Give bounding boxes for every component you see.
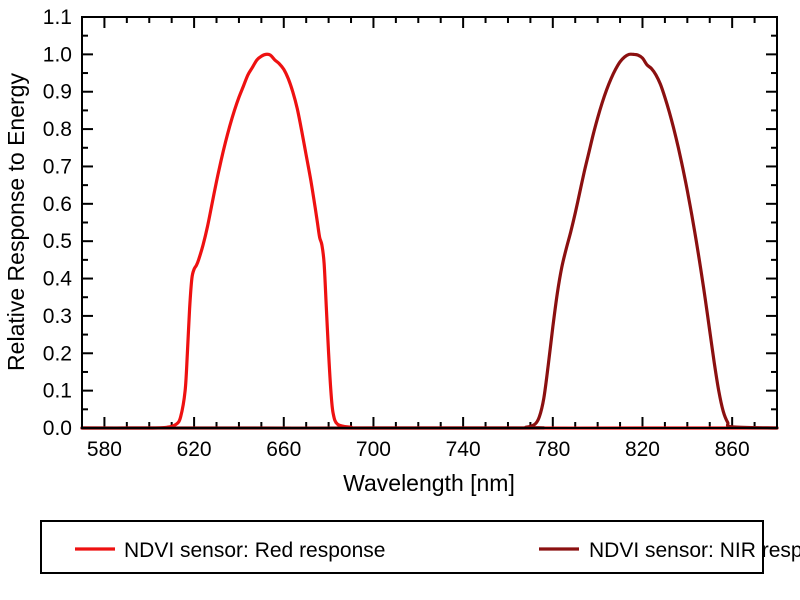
x-axis-title: Wavelength [nm] (343, 470, 515, 496)
x-tick-label: 740 (446, 438, 481, 461)
x-tick-label: 620 (177, 438, 212, 461)
x-tick-label: 700 (356, 438, 391, 461)
x-tick-label: 860 (715, 438, 750, 461)
legend: NDVI sensor: Red responseNDVI sensor: NI… (41, 521, 800, 573)
y-tick-label: 0.5 (43, 230, 72, 253)
y-tick-label: 0.2 (43, 342, 72, 365)
x-tick-label: 820 (625, 438, 660, 461)
y-tick-label: 1.1 (43, 6, 72, 29)
y-tick-label: 0.7 (43, 155, 72, 178)
chart-page: 580620660700740780820860 0.00.10.20.30.4… (0, 0, 800, 600)
y-tick-label: 0.8 (43, 118, 72, 141)
spectral-response-chart: 580620660700740780820860 0.00.10.20.30.4… (0, 0, 800, 600)
y-tick-label: 0.4 (43, 268, 73, 291)
y-tick-label: 0.0 (43, 417, 72, 440)
x-axis-tick-labels: 580620660700740780820860 (87, 438, 750, 461)
y-tick-label: 0.9 (43, 81, 72, 104)
legend-entry-label: NDVI sensor: NIR response (589, 539, 800, 562)
y-axis-title: Relative Response to Energy (3, 73, 29, 371)
x-tick-label: 580 (87, 438, 122, 461)
y-tick-label: 0.1 (43, 380, 72, 403)
y-tick-label: 0.6 (43, 193, 72, 216)
y-tick-label: 1.0 (43, 43, 72, 66)
y-axis-tick-labels: 0.00.10.20.30.40.50.60.70.80.91.01.1 (43, 6, 73, 440)
x-tick-label: 780 (535, 438, 570, 461)
y-tick-label: 0.3 (43, 305, 72, 328)
x-tick-label: 660 (266, 438, 301, 461)
legend-entry-label: NDVI sensor: Red response (124, 539, 385, 562)
figure-container: 580620660700740780820860 0.00.10.20.30.4… (0, 0, 800, 600)
